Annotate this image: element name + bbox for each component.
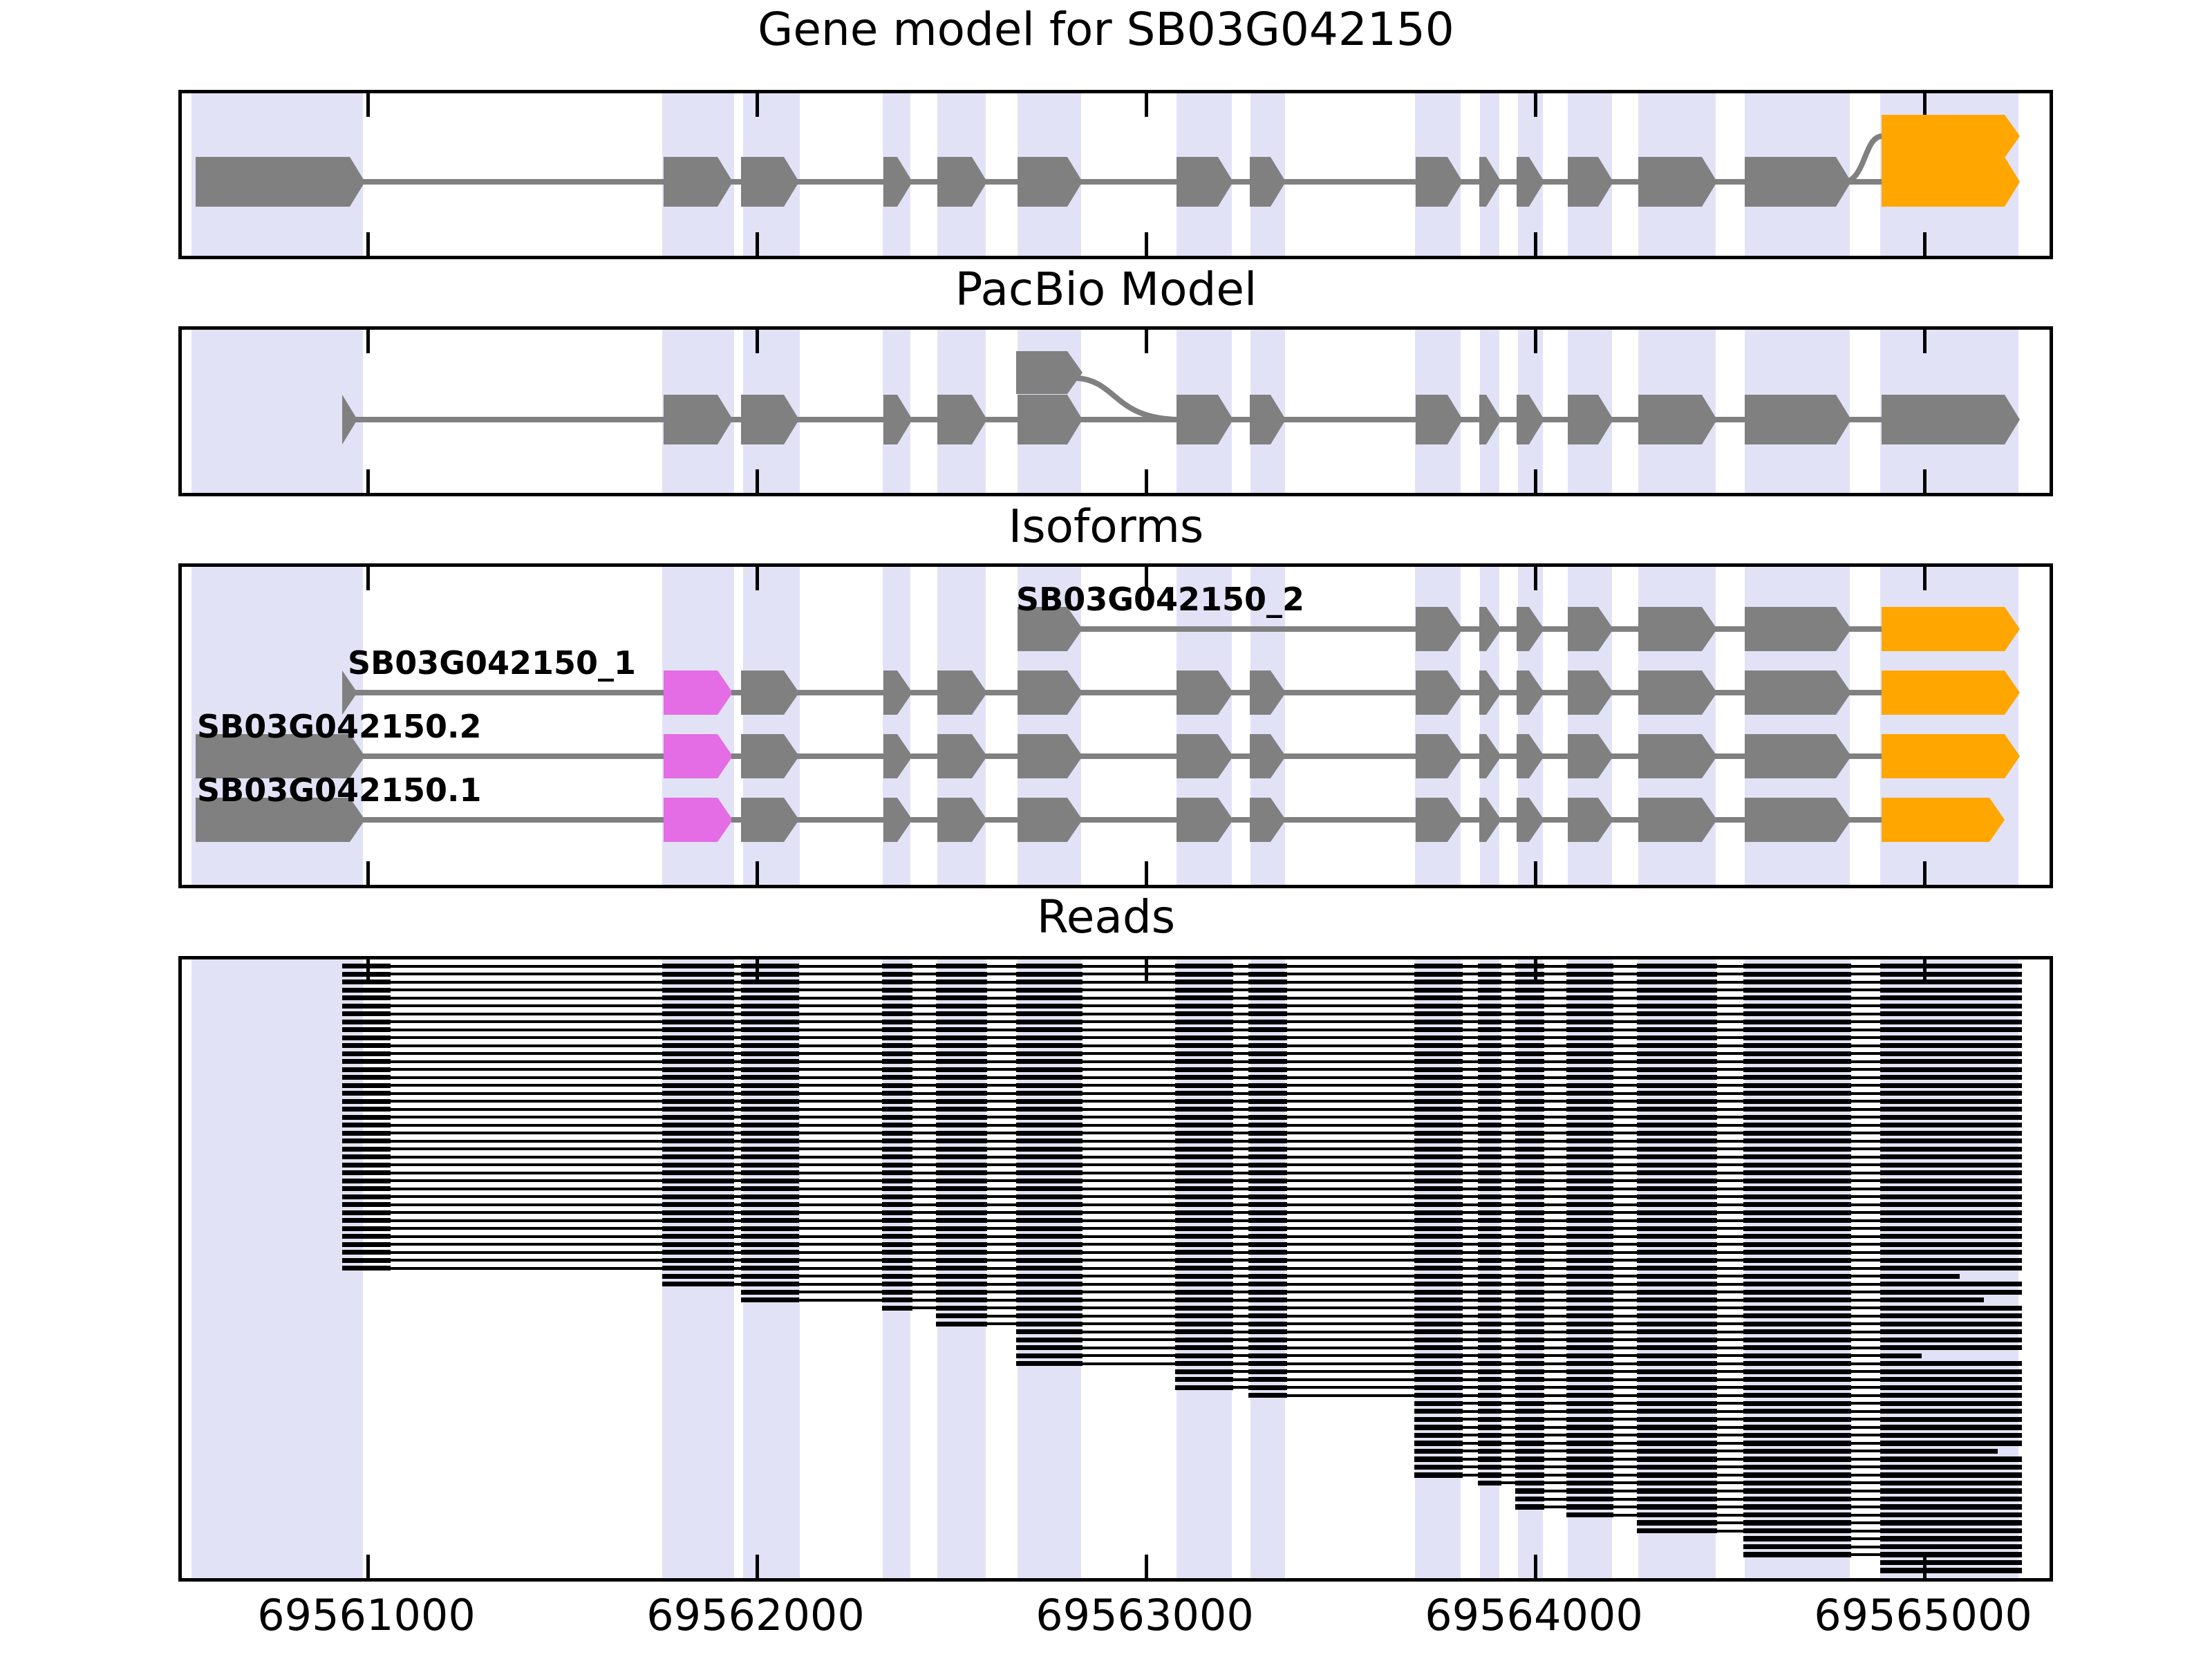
- read-exon-block[interactable]: [1637, 1488, 1717, 1493]
- read-exon-block[interactable]: [342, 988, 391, 993]
- read-exon-block[interactable]: [1016, 1131, 1082, 1136]
- read-exon-block[interactable]: [882, 995, 912, 1000]
- read-exon-block[interactable]: [1743, 1091, 1851, 1096]
- read-exon-block[interactable]: [741, 1107, 799, 1112]
- read-exon-block[interactable]: [1743, 1258, 1851, 1263]
- read-exon-block[interactable]: [1016, 1345, 1082, 1350]
- read-exon-block[interactable]: [1515, 1297, 1544, 1302]
- read-exon-block[interactable]: [1743, 1497, 1851, 1501]
- read-exon-block[interactable]: [1880, 1512, 2022, 1517]
- read-exon-block[interactable]: [1478, 1361, 1501, 1366]
- read-exon-block[interactable]: [1175, 1075, 1233, 1080]
- read-exon-block[interactable]: [1414, 1425, 1463, 1430]
- read-exon-block[interactable]: [1414, 1282, 1463, 1286]
- read-exon-block[interactable]: [1478, 1027, 1501, 1032]
- read-exon-block[interactable]: [1175, 1329, 1233, 1334]
- read-exon-block[interactable]: [1414, 1409, 1463, 1414]
- exon-block[interactable]: [1882, 734, 2020, 778]
- read-exon-block[interactable]: [1414, 1099, 1463, 1104]
- read-exon-block[interactable]: [1016, 995, 1082, 1000]
- read-exon-block[interactable]: [1880, 1520, 2022, 1525]
- read-exon-block[interactable]: [1637, 1250, 1717, 1255]
- read-exon-block[interactable]: [1743, 1179, 1851, 1183]
- read-exon-block[interactable]: [1743, 1512, 1851, 1517]
- read-exon-block[interactable]: [1414, 1091, 1463, 1096]
- read-exon-block[interactable]: [1566, 1329, 1613, 1334]
- read-exon-block[interactable]: [1880, 1282, 2022, 1286]
- read-exon-block[interactable]: [1248, 1369, 1287, 1374]
- read-exon-block[interactable]: [342, 1266, 391, 1271]
- read-exon-block[interactable]: [1743, 1099, 1851, 1104]
- read-exon-block[interactable]: [936, 1322, 987, 1327]
- read-exon-block[interactable]: [1016, 1258, 1082, 1263]
- read-exon-block[interactable]: [936, 1226, 987, 1231]
- read-exon-block[interactable]: [1566, 1242, 1613, 1247]
- read-exon-block[interactable]: [1016, 1234, 1082, 1239]
- read-exon-block[interactable]: [936, 1011, 987, 1016]
- read-exon-block[interactable]: [662, 988, 734, 993]
- read-exon-block[interactable]: [1566, 1297, 1613, 1302]
- read-exon-block[interactable]: [936, 1163, 987, 1168]
- read-exon-block[interactable]: [1478, 980, 1501, 984]
- read-exon-block[interactable]: [1637, 1067, 1717, 1072]
- read-exon-block[interactable]: [342, 1004, 391, 1009]
- read-exon-block[interactable]: [1515, 1067, 1544, 1072]
- read-exon-block[interactable]: [1566, 1393, 1613, 1398]
- read-exon-block[interactable]: [1414, 1306, 1463, 1311]
- read-exon-block[interactable]: [1637, 1210, 1717, 1215]
- read-exon-block[interactable]: [1248, 1290, 1287, 1295]
- read-exon-block[interactable]: [1637, 1035, 1717, 1040]
- read-exon-block[interactable]: [1637, 1186, 1717, 1191]
- read-exon-block[interactable]: [1478, 1409, 1501, 1414]
- read-exon-block[interactable]: [1248, 1186, 1287, 1191]
- read-exon-block[interactable]: [1016, 1099, 1082, 1104]
- read-exon-block[interactable]: [1637, 1004, 1717, 1009]
- read-exon-block[interactable]: [1515, 1488, 1544, 1493]
- read-exon-block[interactable]: [1743, 1020, 1851, 1024]
- exon-block[interactable]: [1882, 607, 2020, 651]
- read-exon-block[interactable]: [741, 1297, 799, 1302]
- read-exon-block[interactable]: [1414, 1075, 1463, 1080]
- read-exon-block[interactable]: [1880, 1020, 2022, 1024]
- read-exon-block[interactable]: [936, 1313, 987, 1318]
- read-exon-block[interactable]: [1637, 1154, 1717, 1159]
- read-exon-block[interactable]: [1016, 1297, 1082, 1302]
- read-exon-block[interactable]: [1248, 1345, 1287, 1350]
- read-exon-block[interactable]: [1175, 1004, 1233, 1009]
- read-exon-block[interactable]: [1743, 1035, 1851, 1040]
- read-exon-block[interactable]: [1515, 1266, 1544, 1271]
- read-exon-block[interactable]: [1743, 1465, 1851, 1470]
- read-exon-block[interactable]: [1248, 988, 1287, 993]
- read-exon-block[interactable]: [342, 1043, 391, 1048]
- read-exon-block[interactable]: [1414, 1377, 1463, 1382]
- read-exon-block[interactable]: [1880, 1250, 2022, 1255]
- read-exon-block[interactable]: [1743, 1154, 1851, 1159]
- read-exon-block[interactable]: [1515, 1107, 1544, 1112]
- read-exon-block[interactable]: [1880, 1417, 2022, 1422]
- read-exon-block[interactable]: [1414, 1131, 1463, 1136]
- read-exon-block[interactable]: [1414, 1115, 1463, 1120]
- read-exon-block[interactable]: [1515, 1282, 1544, 1286]
- read-exon-block[interactable]: [1414, 1338, 1463, 1342]
- read-exon-block[interactable]: [1515, 1123, 1544, 1127]
- read-exon-block[interactable]: [1566, 1465, 1613, 1470]
- read-exon-block[interactable]: [936, 1099, 987, 1104]
- read-exon-block[interactable]: [1515, 1361, 1544, 1366]
- read-exon-block[interactable]: [1880, 1163, 2022, 1168]
- read-exon-block[interactable]: [1566, 1107, 1613, 1112]
- read-exon-block[interactable]: [1478, 1194, 1501, 1199]
- read-exon-block[interactable]: [1743, 1361, 1851, 1366]
- read-exon-block[interactable]: [1248, 1004, 1287, 1009]
- read-exon-block[interactable]: [1880, 1385, 2022, 1390]
- read-exon-block[interactable]: [1743, 1027, 1851, 1032]
- read-exon-block[interactable]: [1637, 1409, 1717, 1414]
- read-exon-block[interactable]: [741, 964, 799, 968]
- read-exon-block[interactable]: [741, 1250, 799, 1255]
- read-exon-block[interactable]: [1566, 1170, 1613, 1175]
- read-exon-block[interactable]: [936, 1290, 987, 1295]
- read-exon-block[interactable]: [1637, 995, 1717, 1000]
- read-exon-block[interactable]: [1478, 1099, 1501, 1104]
- read-exon-block[interactable]: [741, 1210, 799, 1215]
- read-exon-block[interactable]: [882, 1242, 912, 1247]
- read-exon-block[interactable]: [1566, 1512, 1613, 1517]
- read-exon-block[interactable]: [1248, 1338, 1287, 1342]
- read-exon-block[interactable]: [1637, 1147, 1717, 1152]
- read-exon-block[interactable]: [1743, 1322, 1851, 1327]
- read-exon-block[interactable]: [741, 1194, 799, 1199]
- exon-block[interactable]: [1638, 798, 1717, 842]
- read-exon-block[interactable]: [1743, 1226, 1851, 1231]
- read-exon-block[interactable]: [936, 1138, 987, 1143]
- read-exon-block[interactable]: [1414, 1123, 1463, 1127]
- read-exon-block[interactable]: [1880, 1043, 2022, 1048]
- read-exon-block[interactable]: [1478, 1282, 1501, 1286]
- read-exon-block[interactable]: [1637, 1512, 1717, 1517]
- read-exon-block[interactable]: [882, 972, 912, 977]
- read-exon-block[interactable]: [1637, 1107, 1717, 1112]
- read-exon-block[interactable]: [1414, 1449, 1463, 1454]
- read-exon-block[interactable]: [1478, 1043, 1501, 1048]
- read-exon-block[interactable]: [1880, 1433, 2022, 1438]
- read-exon-block[interactable]: [1175, 1043, 1233, 1048]
- read-exon-block[interactable]: [1637, 1528, 1717, 1533]
- exon-block[interactable]: [1745, 395, 1851, 444]
- read-exon-block[interactable]: [741, 1154, 799, 1159]
- read-exon-block[interactable]: [1248, 1202, 1287, 1207]
- read-exon-block[interactable]: [1637, 1059, 1717, 1064]
- read-exon-block[interactable]: [1880, 1409, 2022, 1414]
- read-exon-block[interactable]: [1743, 1107, 1851, 1112]
- read-exon-block[interactable]: [1016, 1266, 1082, 1271]
- read-exon-block[interactable]: [662, 1234, 734, 1239]
- read-exon-block[interactable]: [1637, 1179, 1717, 1183]
- read-exon-block[interactable]: [1414, 1266, 1463, 1271]
- read-exon-block[interactable]: [1248, 1361, 1287, 1366]
- read-exon-block[interactable]: [1743, 1004, 1851, 1009]
- read-exon-block[interactable]: [1637, 1131, 1717, 1136]
- read-exon-block[interactable]: [1016, 1067, 1082, 1072]
- read-exon-block[interactable]: [1880, 1560, 2022, 1565]
- read-exon-block[interactable]: [1414, 1401, 1463, 1406]
- read-exon-block[interactable]: [882, 1027, 912, 1032]
- read-exon-block[interactable]: [1515, 1401, 1544, 1406]
- reads-panel[interactable]: [178, 956, 2053, 1582]
- read-exon-block[interactable]: [1743, 1067, 1851, 1072]
- read-exon-block[interactable]: [1743, 1051, 1851, 1056]
- read-exon-block[interactable]: [1880, 1377, 2022, 1382]
- read-exon-block[interactable]: [342, 980, 391, 984]
- read-exon-block[interactable]: [1566, 1027, 1613, 1032]
- read-exon-block[interactable]: [1743, 1131, 1851, 1136]
- read-exon-block[interactable]: [1248, 1210, 1287, 1215]
- read-exon-block[interactable]: [662, 1154, 734, 1159]
- read-exon-block[interactable]: [741, 1099, 799, 1104]
- read-exon-block[interactable]: [1637, 1353, 1717, 1358]
- read-exon-block[interactable]: [1515, 1043, 1544, 1048]
- read-exon-block[interactable]: [1478, 1456, 1501, 1461]
- read-exon-block[interactable]: [741, 1020, 799, 1024]
- read-exon-block[interactable]: [1414, 988, 1463, 993]
- read-exon-block[interactable]: [1414, 1004, 1463, 1009]
- read-exon-block[interactable]: [936, 972, 987, 977]
- read-exon-block[interactable]: [1515, 1481, 1544, 1485]
- read-exon-block[interactable]: [662, 1123, 734, 1127]
- read-exon-block[interactable]: [1566, 1226, 1613, 1231]
- read-exon-block[interactable]: [741, 1170, 799, 1175]
- read-exon-block[interactable]: [1515, 1417, 1544, 1422]
- read-exon-block[interactable]: [1566, 1202, 1613, 1207]
- read-exon-block[interactable]: [342, 1202, 391, 1207]
- read-exon-block[interactable]: [1248, 995, 1287, 1000]
- read-exon-block[interactable]: [882, 1226, 912, 1231]
- read-exon-block[interactable]: [882, 1297, 912, 1302]
- read-exon-block[interactable]: [1016, 1115, 1082, 1120]
- read-exon-block[interactable]: [882, 1107, 912, 1112]
- read-exon-block[interactable]: [1566, 1154, 1613, 1159]
- read-exon-block[interactable]: [1414, 1361, 1463, 1366]
- read-exon-block[interactable]: [1880, 1290, 2022, 1295]
- read-exon-block[interactable]: [882, 1210, 912, 1215]
- read-exon-block[interactable]: [1566, 1147, 1613, 1152]
- read-exon-block[interactable]: [1478, 1290, 1501, 1295]
- read-exon-block[interactable]: [1515, 1258, 1544, 1263]
- read-exon-block[interactable]: [1880, 1497, 2022, 1501]
- read-exon-block[interactable]: [1414, 1218, 1463, 1223]
- read-exon-block[interactable]: [1175, 980, 1233, 984]
- read-exon-block[interactable]: [1880, 1552, 2022, 1557]
- read-exon-block[interactable]: [882, 1131, 912, 1136]
- read-exon-block[interactable]: [1478, 1011, 1501, 1016]
- read-exon-block[interactable]: [1515, 1115, 1544, 1120]
- read-exon-block[interactable]: [882, 1163, 912, 1168]
- read-exon-block[interactable]: [1566, 1377, 1613, 1382]
- read-exon-block[interactable]: [342, 1075, 391, 1080]
- read-exon-block[interactable]: [936, 1035, 987, 1040]
- read-exon-block[interactable]: [1637, 1043, 1717, 1048]
- read-exon-block[interactable]: [936, 1067, 987, 1072]
- read-exon-block[interactable]: [1880, 1035, 2022, 1040]
- read-exon-block[interactable]: [1566, 1449, 1613, 1454]
- read-exon-block[interactable]: [1478, 1059, 1501, 1064]
- read-exon-block[interactable]: [1637, 1234, 1717, 1239]
- read-exon-block[interactable]: [1743, 1011, 1851, 1016]
- read-exon-block[interactable]: [1880, 1075, 2022, 1080]
- read-exon-block[interactable]: [936, 980, 987, 984]
- read-exon-block[interactable]: [1566, 988, 1613, 993]
- read-exon-block[interactable]: [882, 1306, 912, 1311]
- read-exon-block[interactable]: [1515, 1179, 1544, 1183]
- exon-block[interactable]: [1745, 157, 1851, 207]
- read-exon-block[interactable]: [882, 1202, 912, 1207]
- read-exon-block[interactable]: [1414, 1067, 1463, 1072]
- read-exon-block[interactable]: [662, 1107, 734, 1112]
- read-exon-block[interactable]: [1743, 1138, 1851, 1143]
- read-exon-block[interactable]: [1515, 1035, 1544, 1040]
- read-exon-block[interactable]: [1414, 1258, 1463, 1263]
- read-exon-block[interactable]: [1515, 1051, 1544, 1056]
- read-exon-block[interactable]: [1566, 1504, 1613, 1509]
- read-exon-block[interactable]: [1175, 1147, 1233, 1152]
- read-exon-block[interactable]: [1880, 1544, 2022, 1549]
- read-exon-block[interactable]: [1478, 1306, 1501, 1311]
- read-exon-block[interactable]: [1515, 1226, 1544, 1231]
- read-exon-block[interactable]: [342, 1107, 391, 1112]
- read-exon-block[interactable]: [1880, 1186, 2022, 1191]
- read-exon-block[interactable]: [1016, 1290, 1082, 1295]
- read-exon-block[interactable]: [1743, 1456, 1851, 1461]
- read-exon-block[interactable]: [741, 1242, 799, 1247]
- read-exon-block[interactable]: [1414, 995, 1463, 1000]
- read-exon-block[interactable]: [1515, 1345, 1544, 1350]
- read-exon-block[interactable]: [662, 980, 734, 984]
- read-exon-block[interactable]: [1566, 1258, 1613, 1263]
- exon-block[interactable]: [1638, 395, 1717, 444]
- read-exon-block[interactable]: [1016, 1123, 1082, 1127]
- read-exon-block[interactable]: [1175, 1194, 1233, 1199]
- read-exon-block[interactable]: [741, 1138, 799, 1143]
- read-exon-block[interactable]: [1175, 1377, 1233, 1382]
- read-exon-block[interactable]: [1566, 1385, 1613, 1390]
- read-exon-block[interactable]: [741, 1067, 799, 1072]
- read-exon-block[interactable]: [741, 1043, 799, 1048]
- read-exon-block[interactable]: [1743, 980, 1851, 984]
- read-exon-block[interactable]: [1566, 1425, 1613, 1430]
- read-exon-block[interactable]: [882, 1115, 912, 1120]
- read-exon-block[interactable]: [1175, 1123, 1233, 1127]
- read-exon-block[interactable]: [662, 972, 734, 977]
- read-exon-block[interactable]: [1515, 1011, 1544, 1016]
- read-exon-block[interactable]: [1016, 1020, 1082, 1024]
- read-exon-block[interactable]: [936, 1115, 987, 1120]
- read-exon-block[interactable]: [1175, 1020, 1233, 1024]
- read-exon-block[interactable]: [1637, 1504, 1717, 1509]
- read-exon-block[interactable]: [662, 1202, 734, 1207]
- read-exon-block[interactable]: [1515, 1393, 1544, 1398]
- read-exon-block[interactable]: [1175, 1338, 1233, 1342]
- read-exon-block[interactable]: [1637, 1306, 1717, 1311]
- read-exon-block[interactable]: [882, 1250, 912, 1255]
- read-exon-block[interactable]: [1515, 1242, 1544, 1247]
- read-exon-block[interactable]: [1637, 1433, 1717, 1438]
- read-exon-block[interactable]: [1566, 1472, 1613, 1477]
- read-exon-block[interactable]: [741, 1202, 799, 1207]
- read-exon-block[interactable]: [1566, 972, 1613, 977]
- read-exon-block[interactable]: [1743, 1369, 1851, 1374]
- read-exon-block[interactable]: [1016, 1194, 1082, 1199]
- read-exon-block[interactable]: [1478, 1020, 1501, 1024]
- read-exon-block[interactable]: [1414, 1179, 1463, 1183]
- read-exon-block[interactable]: [1016, 1338, 1082, 1342]
- read-exon-block[interactable]: [1637, 972, 1717, 977]
- read-exon-block[interactable]: [662, 1250, 734, 1255]
- read-exon-block[interactable]: [1248, 1154, 1287, 1159]
- read-exon-block[interactable]: [1414, 1441, 1463, 1445]
- read-exon-block[interactable]: [1743, 1393, 1851, 1398]
- read-exon-block[interactable]: [1515, 1290, 1544, 1295]
- read-exon-block[interactable]: [882, 964, 912, 968]
- read-exon-block[interactable]: [1743, 1504, 1851, 1509]
- read-exon-block[interactable]: [1880, 1242, 2022, 1247]
- read-exon-block[interactable]: [1414, 1186, 1463, 1191]
- read-exon-block[interactable]: [741, 1258, 799, 1263]
- read-exon-block[interactable]: [1566, 1313, 1613, 1318]
- read-exon-block[interactable]: [1248, 1083, 1287, 1088]
- read-exon-block[interactable]: [741, 1290, 799, 1295]
- read-exon-block[interactable]: [1637, 1266, 1717, 1271]
- read-exon-block[interactable]: [1637, 1449, 1717, 1454]
- read-exon-block[interactable]: [1515, 1234, 1544, 1239]
- read-exon-block[interactable]: [1566, 1210, 1613, 1215]
- read-exon-block[interactable]: [1175, 1369, 1233, 1374]
- read-exon-block[interactable]: [1175, 1242, 1233, 1247]
- read-exon-block[interactable]: [882, 1083, 912, 1088]
- read-exon-block[interactable]: [1248, 1147, 1287, 1152]
- read-exon-block[interactable]: [1880, 1456, 2022, 1461]
- read-exon-block[interactable]: [1414, 1059, 1463, 1064]
- read-exon-block[interactable]: [1880, 988, 2022, 993]
- read-exon-block[interactable]: [662, 1194, 734, 1199]
- read-exon-block[interactable]: [1515, 1385, 1544, 1390]
- read-exon-block[interactable]: [882, 1004, 912, 1009]
- read-exon-block[interactable]: [1414, 1194, 1463, 1199]
- read-exon-block[interactable]: [1880, 1528, 2022, 1533]
- read-exon-block[interactable]: [1880, 1099, 2022, 1104]
- read-exon-block[interactable]: [1743, 988, 1851, 993]
- read-exon-block[interactable]: [1414, 1369, 1463, 1374]
- read-exon-block[interactable]: [1478, 1465, 1501, 1470]
- read-exon-block[interactable]: [741, 1226, 799, 1231]
- read-exon-block[interactable]: [1478, 1425, 1501, 1430]
- read-exon-block[interactable]: [741, 1179, 799, 1183]
- read-exon-block[interactable]: [1478, 1107, 1501, 1112]
- read-exon-block[interactable]: [936, 1107, 987, 1112]
- read-exon-block[interactable]: [1880, 1004, 2022, 1009]
- read-exon-block[interactable]: [1016, 1250, 1082, 1255]
- read-exon-block[interactable]: [1016, 1282, 1082, 1286]
- read-exon-block[interactable]: [1175, 1353, 1233, 1358]
- read-exon-block[interactable]: [1566, 1353, 1613, 1358]
- read-exon-block[interactable]: [1248, 1163, 1287, 1168]
- read-exon-block[interactable]: [1743, 1194, 1851, 1199]
- read-exon-block[interactable]: [342, 1099, 391, 1104]
- read-exon-block[interactable]: [1566, 1099, 1613, 1104]
- read-exon-block[interactable]: [1248, 980, 1287, 984]
- read-exon-block[interactable]: [1515, 980, 1544, 984]
